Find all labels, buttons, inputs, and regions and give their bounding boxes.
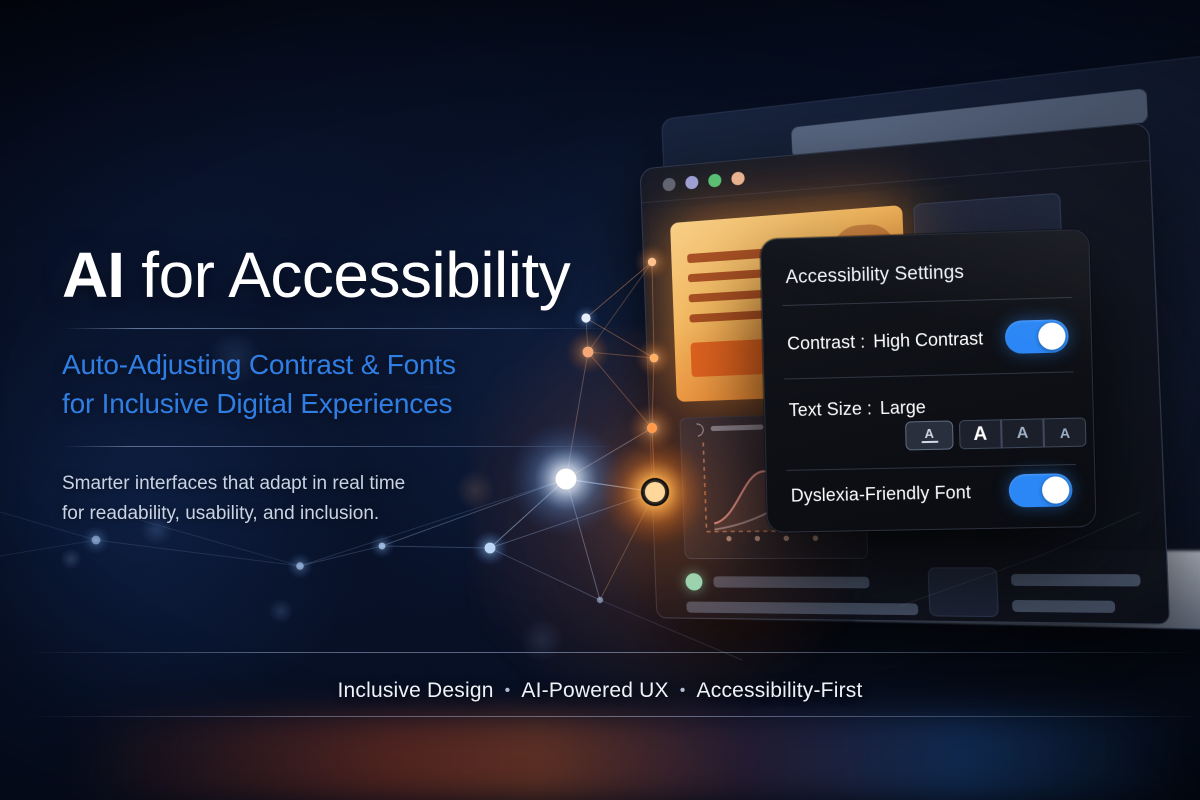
footer-item-accessibility-first: Accessibility-First bbox=[697, 679, 863, 703]
footer-separator: • bbox=[505, 682, 511, 700]
poster-stage: AI for Accessibility Auto-Adjusting Cont… bbox=[0, 0, 1200, 800]
footer-divider-bottom bbox=[0, 716, 1200, 717]
footer-item-inclusive-design: Inclusive Design bbox=[337, 679, 493, 703]
footer-item-ai-powered-ux: AI-Powered UX bbox=[521, 679, 668, 703]
footer-tagline: Inclusive Design • AI-Powered UX • Acces… bbox=[0, 668, 1200, 714]
footer-reflection-glow bbox=[0, 716, 1200, 800]
footer-separator: • bbox=[680, 682, 686, 700]
footer-divider-top bbox=[0, 652, 1200, 653]
